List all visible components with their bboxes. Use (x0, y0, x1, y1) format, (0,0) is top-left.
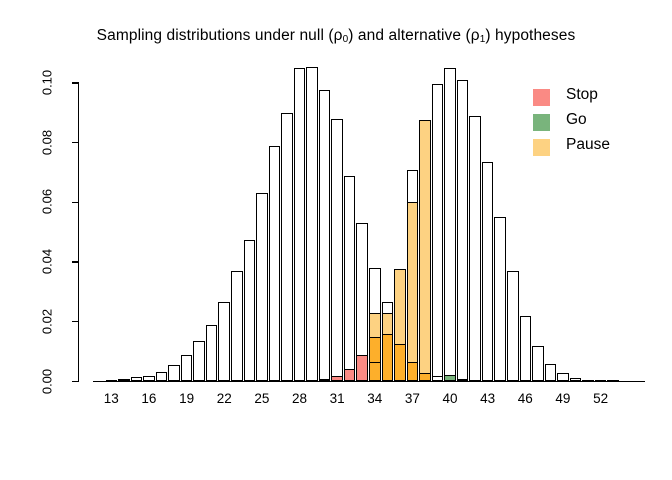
histogram-bar-alternative (532, 346, 544, 382)
y-tick-label: 0.00 (40, 358, 55, 404)
legend-swatch-stop (533, 89, 550, 106)
y-tick-label: 0.08 (40, 119, 55, 165)
histogram-bar-null (181, 355, 193, 382)
histogram-bar-alternative (482, 162, 494, 381)
decision-bar-stop (319, 379, 331, 381)
x-tick-label: 40 (430, 391, 470, 406)
histogram-bar-alternative (457, 80, 469, 381)
histogram-bar-alternative (520, 316, 532, 382)
histogram-bar-alternative (557, 373, 569, 381)
y-tick-mark (72, 202, 79, 203)
y-tick-label: 0.04 (40, 239, 55, 285)
x-tick-label: 34 (355, 391, 395, 406)
chart-canvas: Sampling distributions under null (ρ0) a… (0, 0, 672, 480)
histogram-bar-alternative (382, 313, 394, 382)
histogram-bar-null (193, 341, 205, 381)
histogram-bar-null (319, 90, 331, 381)
histogram-bar-null (168, 365, 180, 381)
y-tick-mark (72, 82, 79, 83)
histogram-bar-null (118, 379, 130, 382)
x-tick-label: 31 (317, 391, 357, 406)
histogram-bar-null (218, 302, 230, 381)
x-tick-label: 16 (129, 391, 169, 406)
histogram-bar-null (231, 271, 243, 381)
decision-bar-stop (356, 355, 368, 382)
y-tick-label: 0.02 (40, 298, 55, 344)
x-tick-label: 13 (91, 391, 131, 406)
decision-bar-stop (331, 376, 343, 381)
legend-swatch-go (533, 114, 550, 131)
legend-label: Pause (566, 136, 610, 154)
decision-bar-stop (344, 369, 356, 382)
histogram-bar-null (256, 193, 268, 381)
histogram-bar-null (206, 325, 218, 382)
histogram-bar-alternative (507, 271, 519, 381)
histogram-bar-alternative (570, 378, 582, 382)
histogram-bar-alternative (469, 116, 481, 382)
histogram-bar-null (344, 176, 356, 382)
decision-bar-go (457, 379, 469, 382)
histogram-bar-null (294, 68, 306, 381)
histogram-bar-alternative (444, 68, 456, 381)
histogram-bar-alternative (419, 120, 431, 381)
histogram-bar-alternative (369, 362, 381, 381)
decision-bar-go (469, 380, 481, 382)
legend-label: Stop (566, 86, 598, 104)
histogram-bar-null (331, 119, 343, 382)
y-tick-mark (72, 261, 79, 262)
legend-label: Go (566, 111, 587, 129)
histogram-bar-null (244, 240, 256, 382)
x-tick-label: 25 (242, 391, 282, 406)
histogram-bar-null (143, 376, 155, 382)
histogram-bar-alternative (432, 84, 444, 381)
x-tick-label: 49 (543, 391, 583, 406)
x-tick-label: 43 (468, 391, 508, 406)
histogram-bar-null (156, 372, 168, 382)
y-axis-line (78, 83, 79, 382)
histogram-bar-null (281, 113, 293, 382)
y-tick-mark (72, 142, 79, 143)
y-tick-label: 0.06 (40, 179, 55, 225)
x-tick-label: 22 (204, 391, 244, 406)
histogram-bar-null (106, 380, 118, 382)
x-tick-label: 46 (505, 391, 545, 406)
histogram-bar-null (306, 67, 318, 382)
x-tick-label: 28 (279, 391, 319, 406)
histogram-bar-alternative (607, 380, 619, 382)
y-tick-label: 0.10 (40, 60, 55, 106)
histogram-bar-alternative (394, 269, 406, 382)
histogram-bar-alternative (595, 380, 607, 382)
histogram-bar-alternative (582, 380, 594, 382)
decision-bar-go (444, 375, 456, 382)
histogram-bar-alternative (494, 217, 506, 381)
plot-area: 0.000.020.040.060.080.10 131619222528313… (0, 0, 672, 480)
legend-swatch-pause (533, 139, 550, 156)
y-tick-mark (72, 381, 79, 382)
x-tick-label: 52 (581, 391, 621, 406)
histogram-bar-null (269, 146, 281, 382)
x-tick-label: 37 (392, 391, 432, 406)
histogram-bar-null (131, 377, 143, 381)
y-tick-mark (72, 321, 79, 322)
x-tick-label: 19 (167, 391, 207, 406)
histogram-bar-alternative (545, 364, 557, 382)
histogram-bar-alternative (407, 170, 419, 382)
